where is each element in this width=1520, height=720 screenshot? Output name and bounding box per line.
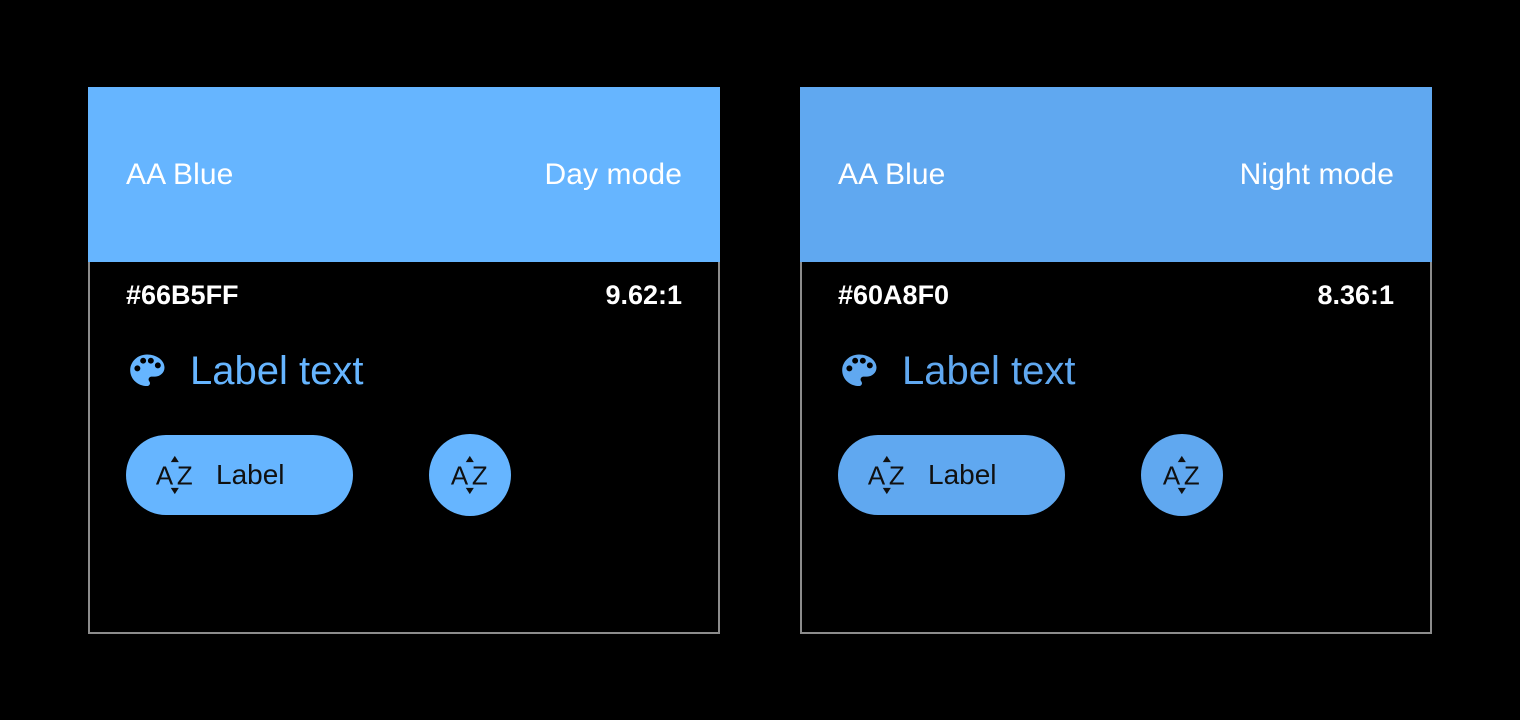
label-text-night: Label text xyxy=(902,351,1075,391)
card-title-day: AA Blue xyxy=(126,160,233,190)
svg-text:Z: Z xyxy=(1184,463,1200,491)
contrast-ratio-day: 9.62:1 xyxy=(605,282,682,309)
button-row-day: A Z Label A Z xyxy=(126,434,511,516)
palette-icon xyxy=(126,350,168,392)
card-header-night: AA Blue Night mode xyxy=(800,87,1432,262)
sort-alpha-icon: A Z xyxy=(447,452,493,498)
svg-text:A: A xyxy=(451,463,469,491)
theme-card-night: AA Blue Night mode #60A8F0 8.36:1 Label … xyxy=(800,87,1432,634)
hex-code-day: #66B5FF xyxy=(126,282,239,309)
sort-label-button-text-night: Label xyxy=(928,461,997,489)
palette-icon xyxy=(838,350,880,392)
sort-alpha-icon: A Z xyxy=(864,452,910,498)
sort-label-button-day[interactable]: A Z Label xyxy=(126,435,353,515)
sort-alpha-icon: A Z xyxy=(152,452,198,498)
card-body-day: #66B5FF 9.62:1 Label text A Z xyxy=(88,262,720,634)
meta-row-day: #66B5FF 9.62:1 xyxy=(126,282,682,309)
card-mode-label-night: Night mode xyxy=(1240,160,1394,190)
card-title-night: AA Blue xyxy=(838,160,945,190)
svg-text:Z: Z xyxy=(889,463,905,491)
card-header-day: AA Blue Day mode xyxy=(88,87,720,262)
sort-label-button-text-day: Label xyxy=(216,461,285,489)
preview-stage: AA Blue Day mode #66B5FF 9.62:1 Label te… xyxy=(0,0,1520,720)
svg-text:Z: Z xyxy=(472,463,488,491)
svg-text:A: A xyxy=(868,463,886,491)
hex-code-night: #60A8F0 xyxy=(838,282,949,309)
contrast-ratio-night: 8.36:1 xyxy=(1317,282,1394,309)
label-row-night: Label text xyxy=(838,350,1075,392)
sort-fab-button-night[interactable]: A Z xyxy=(1141,434,1223,516)
button-row-night: A Z Label A Z xyxy=(838,434,1223,516)
svg-text:A: A xyxy=(156,463,174,491)
svg-text:A: A xyxy=(1163,463,1181,491)
sort-alpha-icon: A Z xyxy=(1159,452,1205,498)
label-text-day: Label text xyxy=(190,351,363,391)
meta-row-night: #60A8F0 8.36:1 xyxy=(838,282,1394,309)
svg-text:Z: Z xyxy=(177,463,193,491)
theme-card-day: AA Blue Day mode #66B5FF 9.62:1 Label te… xyxy=(88,87,720,634)
card-mode-label-day: Day mode xyxy=(544,160,682,190)
label-row-day: Label text xyxy=(126,350,363,392)
sort-fab-button-day[interactable]: A Z xyxy=(429,434,511,516)
sort-label-button-night[interactable]: A Z Label xyxy=(838,435,1065,515)
card-body-night: #60A8F0 8.36:1 Label text A Z xyxy=(800,262,1432,634)
